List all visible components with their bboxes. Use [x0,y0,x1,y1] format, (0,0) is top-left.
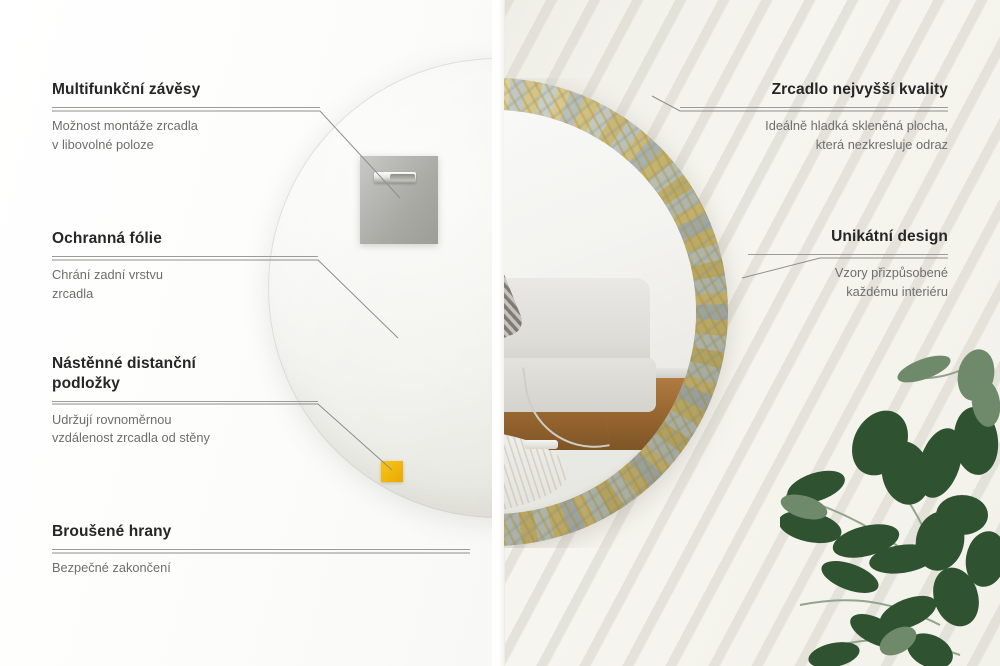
decorative-plant [780,345,1000,666]
hanging-bracket-slot-inner [390,174,415,181]
callout-description: Chrání zadní vrstvu zrcadla [52,266,318,303]
callout-zrcadlo-nejvyssi-kvality: Zrcadlo nejvyšší kvality Ideálně hladká … [680,80,948,154]
infographic-stage: Multifunkční závěsy Možnost montáže zrca… [0,0,1000,666]
callout-rule [52,401,318,402]
callout-title: Unikátní design [748,227,948,247]
callout-rule [52,549,470,550]
yellow-spacer-pad [381,461,403,482]
callout-nastenne-distancni-podlozky: Nástěnné distanční podložky Udržují rovn… [52,354,318,448]
callout-title: Multifunkční závěsy [52,80,320,100]
callout-rule [748,254,948,255]
callout-title: Zrcadlo nejvyšší kvality [680,80,948,100]
callout-description: Možnost montáže zrcadla v libovolné polo… [52,117,320,154]
split-cover-strip [492,0,504,666]
callout-rule [52,256,318,257]
hanging-bracket-plate [360,156,438,244]
callout-rule [680,107,948,108]
callout-description: Bezpečné zakončení [52,559,470,578]
callout-rule [52,107,320,108]
callout-description: Vzory přizpůsobené každému interiéru [748,264,948,301]
callout-multifunkcni-zavesy: Multifunkční závěsy Možnost montáže zrca… [52,80,320,154]
callout-ochranna-folie: Ochranná fólie Chrání zadní vrstvu zrcad… [52,229,318,303]
callout-brousene-hrany: Broušené hrany Bezpečné zakončení [52,522,470,578]
callout-title: Ochranná fólie [52,229,318,249]
callout-description: Udržují rovnoměrnou vzdálenost zrcadla o… [52,411,318,448]
callout-title: Broušené hrany [52,522,470,542]
callout-unikatni-design: Unikátní design Vzory přizpůsobené každé… [748,227,948,301]
callout-description: Ideálně hladká skleněná plocha, která ne… [680,117,948,154]
callout-title: Nástěnné distanční podložky [52,354,318,394]
plant-leaves-icon [780,345,1000,666]
